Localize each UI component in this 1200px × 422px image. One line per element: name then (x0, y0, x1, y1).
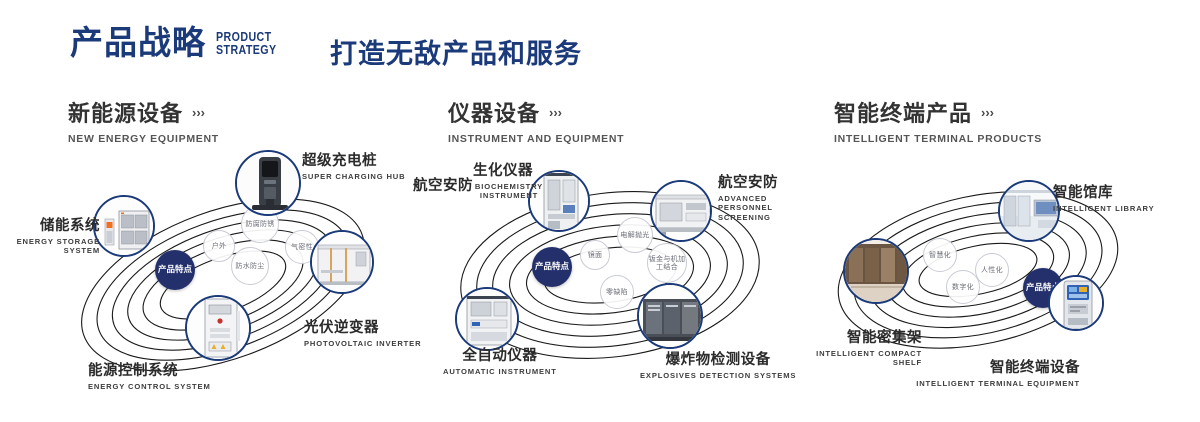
label-en: BIOCHEMISTRY INSTRUMENT (473, 182, 545, 201)
label-intelligent-compact-shelf: 智能密集架 INTELLIGENT COMPACT SHELF (802, 330, 922, 368)
label-photovoltaic-inverter: 光伏逆变器 PHOTOVOLTAIC INVERTER (304, 320, 421, 348)
section-title-cn: 智能终端产品 (834, 96, 972, 128)
section-header-intelligent-terminal: 智能终端产品 ››› INTELLIGENT TERMINAL PRODUCTS (834, 96, 1042, 145)
section-title-en: INTELLIGENT TERMINAL PRODUCTS (834, 133, 1042, 145)
section-header-new-energy: 新能源设备 ››› NEW ENERGY EQUIPMENT (68, 96, 219, 145)
label-cn: 航空安防 (403, 178, 473, 195)
label-explosives-detection-systems: 爆炸物检测设备 EXPLOSIVES DETECTION SYSTEMS (640, 352, 796, 380)
label-automatic-instrument: 全自动仪器 AUTOMATIC INSTRUMENT (443, 348, 557, 376)
smart-terminal-kiosk-icon (1050, 277, 1102, 329)
section-header-instrument: 仪器设备 ››› INSTRUMENT AND EQUIPMENT (448, 96, 624, 145)
core-bubble: 产品特点 (155, 250, 195, 290)
page-subtitle: 打造无敌产品和服务 (330, 32, 582, 71)
node-super-charging-hub[interactable] (235, 150, 301, 216)
feature-bubble: 防水防尘 (231, 247, 269, 285)
node-automatic-instrument[interactable] (455, 287, 519, 351)
label-super-charging-hub: 超级充电桩 SUPER CHARGING HUB (302, 153, 405, 181)
label-en: AUTOMATIC INSTRUMENT (443, 367, 557, 376)
node-photovoltaic-inverter[interactable] (310, 230, 374, 294)
label-en: INTELLIGENT LIBRARY (1053, 204, 1155, 213)
feature-bubble: 人性化 (975, 253, 1009, 287)
label-aviation-security-left: 航空安防 (403, 178, 473, 195)
page-title-cn: 产品战略 (70, 26, 206, 59)
infographic-canvas: 产品战略 PRODUCT STRATEGY 打造无敌产品和服务 新能源设备 ››… (0, 0, 1200, 422)
label-intelligent-terminal-equipment: 智能终端设备 INTELLIGENT TERMINAL EQUIPMENT (900, 360, 1080, 388)
label-cn: 光伏逆变器 (304, 320, 421, 337)
label-cn: 全自动仪器 (443, 348, 557, 365)
chevron-right-icon: ››› (549, 106, 562, 119)
feature-bubble: 智慧化 (923, 238, 957, 272)
feature-bubble: 钣金与机加工结合 (647, 243, 687, 283)
label-cn: 智能馆库 (1053, 185, 1155, 202)
charging-pile-icon (237, 152, 299, 214)
node-energy-storage-system[interactable] (93, 195, 155, 257)
node-intelligent-compact-shelf[interactable] (843, 238, 909, 304)
label-energy-control-system: 能源控制系统 ENERGY CONTROL SYSTEM (88, 363, 211, 391)
pv-inverter-cabinet-icon (312, 232, 372, 292)
label-cn: 超级充电桩 (302, 153, 405, 170)
smart-library-icon (1000, 182, 1058, 240)
page-title-en: PRODUCT STRATEGY (216, 31, 277, 59)
label-en: ENERGY STORAGE SYSTEM (0, 237, 100, 256)
label-en: ENERGY CONTROL SYSTEM (88, 382, 211, 391)
label-intelligent-library: 智能馆库 INTELLIGENT LIBRARY (1053, 185, 1155, 213)
label-en: EXPLOSIVES DETECTION SYSTEMS (640, 371, 796, 380)
energy-storage-cabinet-icon (95, 197, 153, 255)
feature-bubble: 零缺陷 (600, 275, 634, 309)
chevron-right-icon: ››› (192, 106, 205, 119)
feature-bubble: 数字化 (946, 270, 980, 304)
explosives-detector-icon (639, 285, 701, 347)
section-title-cn: 仪器设备 (448, 96, 540, 128)
section-title-cn: 新能源设备 (68, 96, 183, 128)
label-en: PHOTOVOLTAIC INVERTER (304, 339, 421, 348)
compact-shelving-icon (845, 240, 907, 302)
core-bubble: 产品特点 (532, 247, 572, 287)
label-cn: 生化仪器 (473, 163, 545, 180)
label-cn: 航空安防 (718, 175, 814, 192)
cluster-new-energy: 产品特点 户外 防腐防锈 防水防尘 气密性 (45, 155, 405, 385)
section-title-en: NEW ENERGY EQUIPMENT (68, 133, 219, 145)
label-en: INTELLIGENT COMPACT SHELF (802, 349, 922, 368)
node-energy-control-system[interactable] (185, 295, 251, 361)
screening-machine-icon (652, 182, 710, 240)
label-cn: 智能终端设备 (900, 360, 1080, 377)
page-title-en-line2: STRATEGY (216, 44, 277, 56)
node-intelligent-library[interactable] (998, 180, 1060, 242)
node-advanced-personnel-screening[interactable] (650, 180, 712, 242)
feature-bubble: 镜面 (580, 240, 610, 270)
page-title: 产品战略 PRODUCT STRATEGY (70, 26, 290, 59)
automatic-instrument-icon (457, 289, 517, 349)
node-explosives-detection-systems[interactable] (637, 283, 703, 349)
section-title-en: INSTRUMENT AND EQUIPMENT (448, 133, 624, 145)
label-en: ADVANCED PERSONNEL SCREENING (718, 194, 814, 222)
label-advanced-personnel-screening: 航空安防 ADVANCED PERSONNEL SCREENING (718, 175, 814, 222)
chevron-right-icon: ››› (981, 106, 994, 119)
label-cn: 爆炸物检测设备 (640, 352, 796, 369)
label-cn: 能源控制系统 (88, 363, 211, 380)
label-en: INTELLIGENT TERMINAL EQUIPMENT (900, 379, 1080, 388)
label-en: SUPER CHARGING HUB (302, 172, 405, 181)
label-biochemistry-instrument: 生化仪器 BIOCHEMISTRY INSTRUMENT (473, 163, 545, 201)
label-energy-storage-system: 储能系统 ENERGY STORAGE SYSTEM (0, 218, 100, 256)
feature-bubble: 户外 (203, 230, 235, 262)
label-cn: 储能系统 (0, 218, 100, 235)
control-cabinet-icon (187, 297, 249, 359)
label-cn: 智能密集架 (802, 330, 922, 347)
feature-bubble: 电解抛光 (617, 217, 653, 253)
node-intelligent-terminal-equipment[interactable] (1048, 275, 1104, 331)
